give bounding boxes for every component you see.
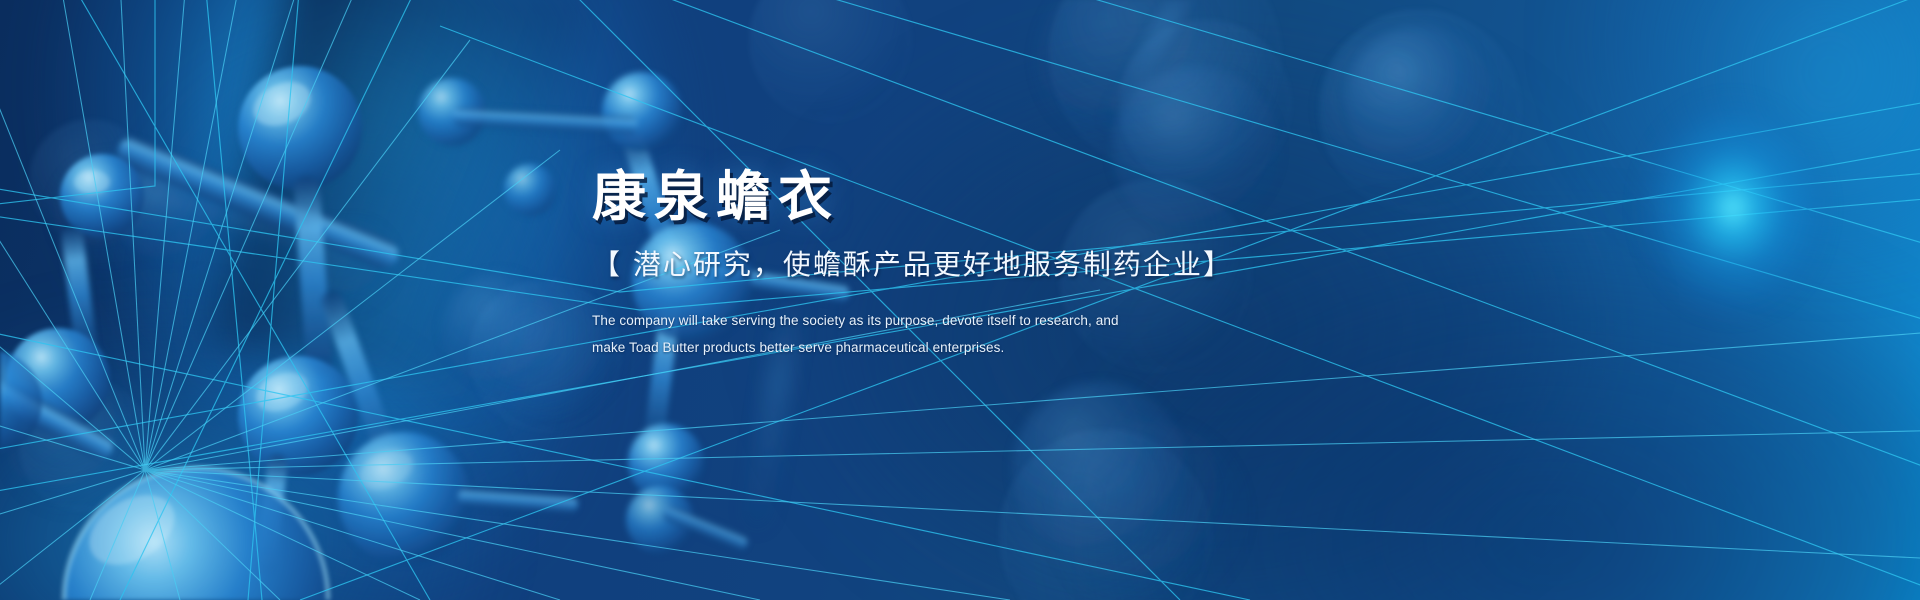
hero-description: The company will take serving the societ… (592, 307, 1692, 361)
page-title: 康泉蟾衣 (592, 168, 1692, 226)
hero-description-line-2: make Toad Butter products better serve p… (592, 334, 1692, 361)
hero-subtitle: 【 潜心研究，使蟾酥产品更好地服务制药企业】 (592, 243, 1692, 283)
hero-banner: 康泉蟾衣 【 潜心研究，使蟾酥产品更好地服务制药企业】 The company … (0, 0, 1920, 600)
hero-description-line-1: The company will take serving the societ… (592, 307, 1692, 334)
hero-copy: 康泉蟾衣 【 潜心研究，使蟾酥产品更好地服务制药企业】 The company … (592, 168, 1692, 361)
